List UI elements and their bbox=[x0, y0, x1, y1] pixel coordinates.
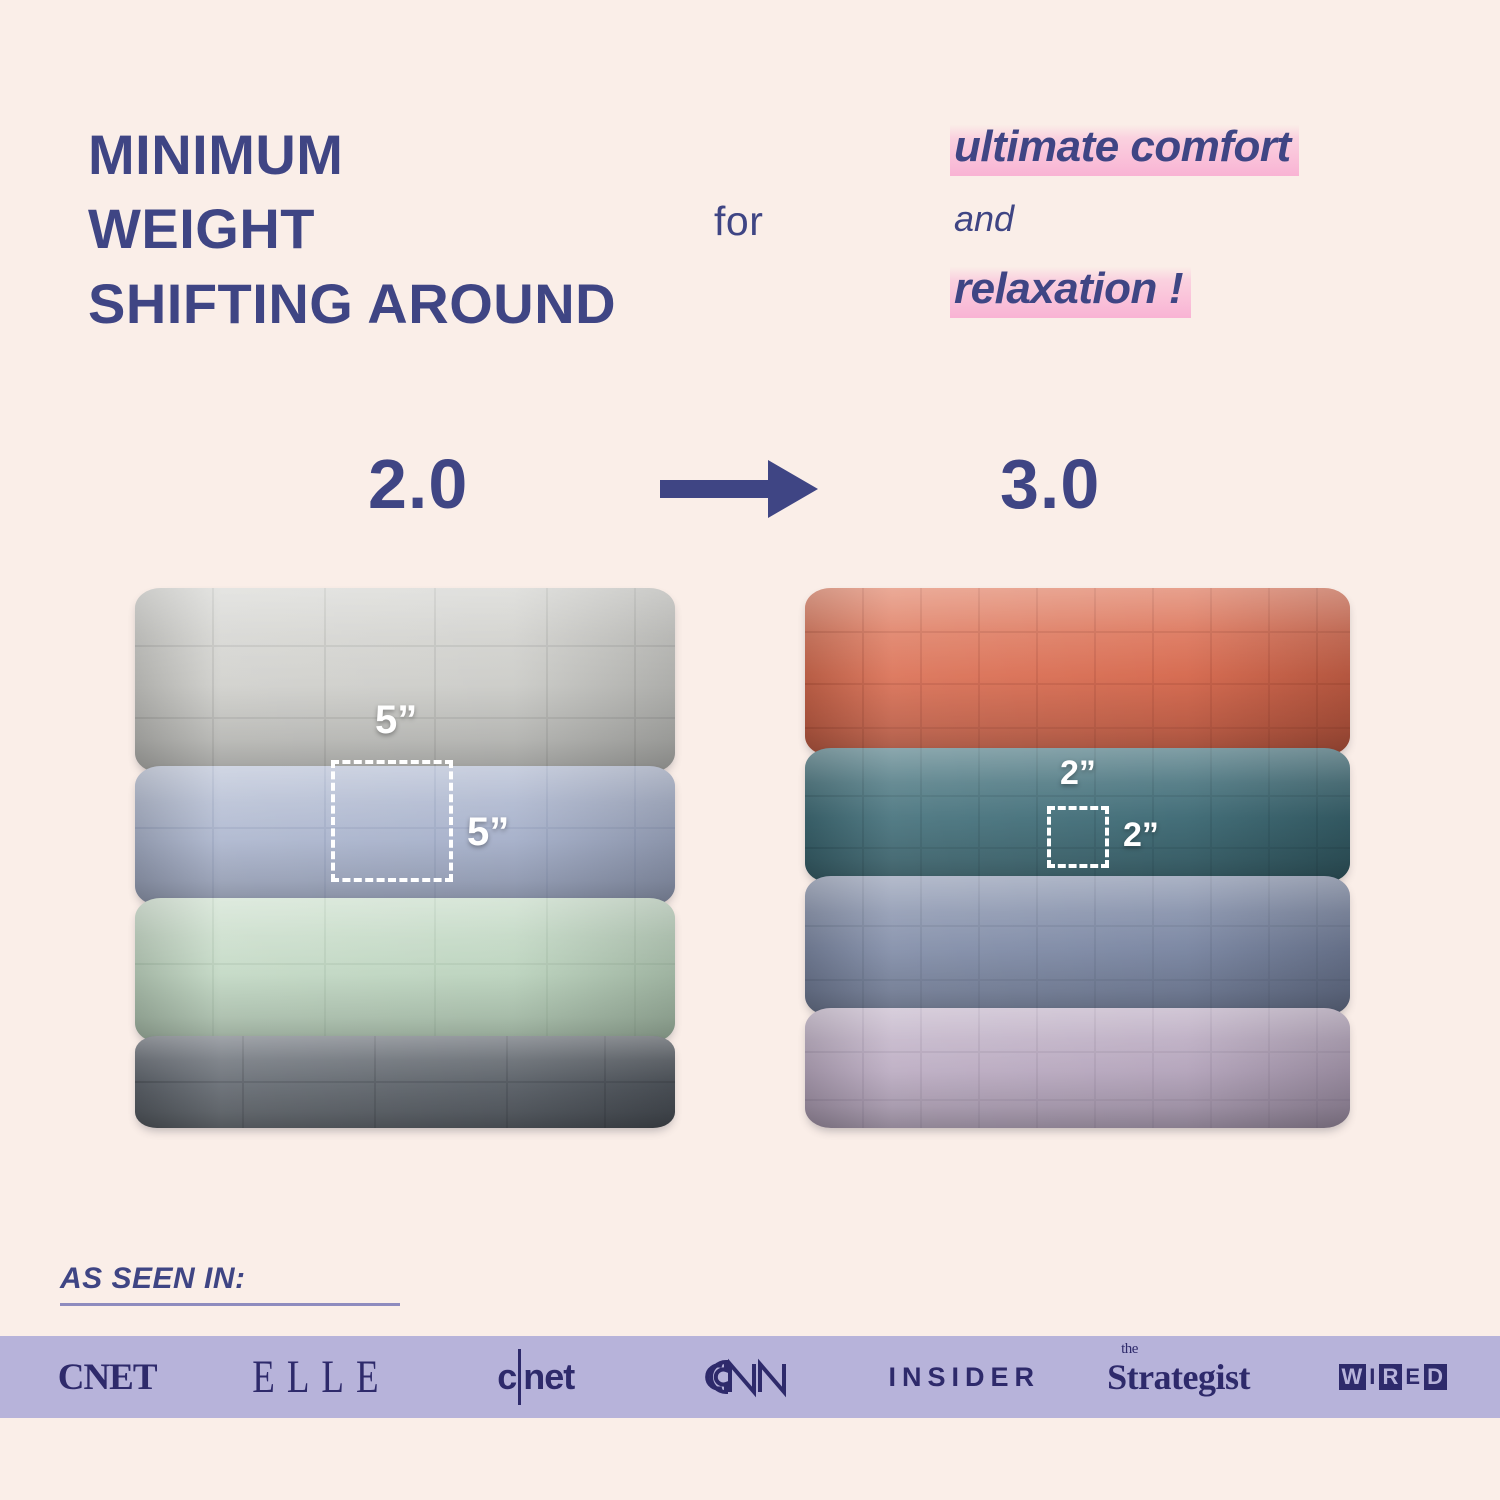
logo-elle-text: ELLE bbox=[252, 1350, 390, 1404]
light-grey-blanket bbox=[135, 588, 675, 773]
logo-cnet-modern-net: net bbox=[523, 1356, 574, 1398]
measure-label-5in-top: 5” bbox=[375, 698, 417, 743]
logo-wired-w: W bbox=[1339, 1364, 1367, 1390]
logo-strategist: theStrategist bbox=[1071, 1356, 1285, 1398]
blanket-stack-right: 2” 2” bbox=[805, 588, 1350, 1128]
coral-blanket bbox=[805, 588, 1350, 756]
logo-wired-e: E bbox=[1404, 1364, 1422, 1390]
logo-wired-r: R bbox=[1379, 1364, 1402, 1390]
blanket-stack-left: 5” 5” bbox=[135, 588, 675, 1128]
logo-cnet-modern: c net bbox=[429, 1349, 643, 1405]
as-seen-in-label: AS SEEN IN: bbox=[60, 1262, 246, 1296]
benefit-and: and bbox=[950, 198, 1014, 240]
infographic-canvas: MINIMUM WEIGHT SHIFTING AROUND for ultim… bbox=[0, 0, 1500, 1500]
as-seen-in-underline bbox=[60, 1303, 400, 1306]
connector-for: for bbox=[714, 198, 763, 245]
logo-elle: ELLE bbox=[214, 1356, 428, 1399]
as-seen-in: AS SEEN IN: bbox=[60, 1262, 405, 1296]
logo-cnet-classic: CNET bbox=[0, 1356, 214, 1399]
charcoal-blanket bbox=[135, 1036, 675, 1128]
logo-wired: WIRED bbox=[1286, 1364, 1500, 1390]
logo-cnet-divider-bar bbox=[518, 1349, 521, 1405]
logo-wired-d: D bbox=[1424, 1364, 1447, 1390]
benefit-line-2: and bbox=[950, 198, 1420, 240]
page-title: MINIMUM WEIGHT SHIFTING AROUND bbox=[88, 118, 708, 341]
measure-label-5in-side: 5” bbox=[467, 810, 509, 855]
headline-line-1: MINIMUM bbox=[88, 118, 708, 192]
measure-label-2in-top: 2” bbox=[1060, 754, 1096, 793]
version-label-right: 3.0 bbox=[1000, 444, 1100, 524]
slate-blue-blanket bbox=[805, 876, 1350, 1016]
measure-label-2in-side: 2” bbox=[1123, 816, 1159, 855]
logo-strategist-text: theStrategist bbox=[1107, 1356, 1250, 1398]
benefit-exclamation: ! bbox=[1165, 262, 1191, 318]
benefit-relaxation: relaxation bbox=[950, 262, 1165, 318]
logo-cnet-modern-text: c net bbox=[497, 1349, 574, 1405]
measure-box-5in bbox=[331, 760, 453, 882]
benefit-line-1: ultimate comfort bbox=[950, 120, 1420, 176]
version-label-left: 2.0 bbox=[368, 444, 468, 524]
logo-cnn bbox=[643, 1354, 857, 1400]
benefit-line-3: relaxation! bbox=[950, 262, 1420, 318]
logo-strategist-main: Strategist bbox=[1107, 1357, 1250, 1397]
logo-wired-i: I bbox=[1368, 1364, 1377, 1390]
logo-cnet-classic-text: CNET bbox=[58, 1356, 157, 1399]
headline-line-2: WEIGHT bbox=[88, 192, 708, 266]
logo-insider-text: INSIDER bbox=[889, 1362, 1041, 1393]
logo-cnet-modern-c: c bbox=[497, 1356, 516, 1398]
cnn-logo-icon bbox=[696, 1354, 804, 1400]
lavender-blanket bbox=[805, 1008, 1350, 1128]
benefit-ultimate-comfort: ultimate comfort bbox=[950, 120, 1299, 176]
arrow-right-icon bbox=[660, 458, 820, 520]
headline-line-3: SHIFTING AROUND bbox=[88, 267, 708, 341]
measure-box-2in bbox=[1047, 806, 1109, 868]
mint-green-blanket bbox=[135, 898, 675, 1043]
logo-wired-text: WIRED bbox=[1339, 1364, 1448, 1390]
press-logo-bar: CNET ELLE c net INSIDER bbox=[0, 1336, 1500, 1418]
logo-strategist-the: the bbox=[1121, 1341, 1138, 1358]
logo-insider: INSIDER bbox=[857, 1362, 1071, 1393]
benefit-copy: ultimate comfort and relaxation! bbox=[950, 120, 1420, 318]
